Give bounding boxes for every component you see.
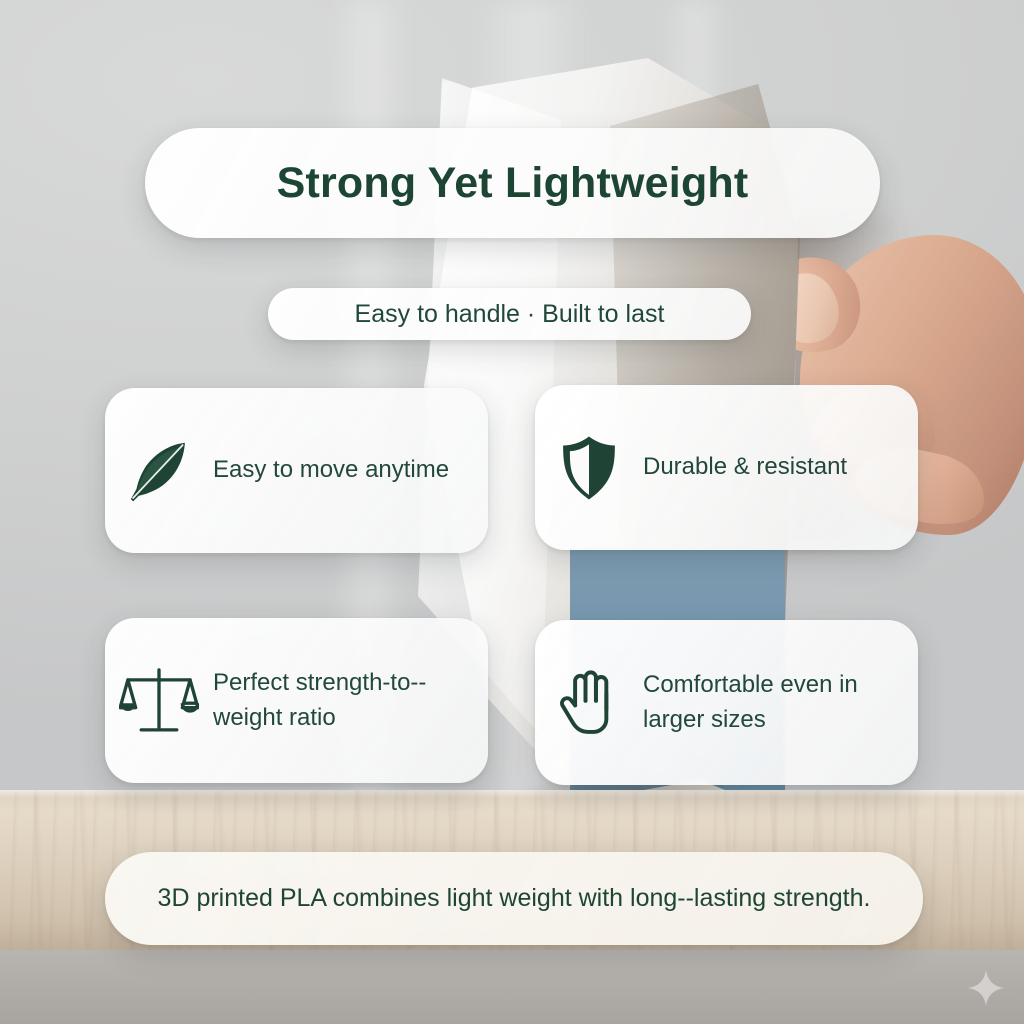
feature-card-label: Durable & resistant [643,450,863,484]
feature-card-durable[interactable]: Durable & resistant [535,385,918,550]
subtitle-pill: Easy to handle · Built to last [268,288,751,340]
feature-card-strength-to-weight[interactable]: Perfect strength-to--weight ratio [105,618,488,783]
sparkle-icon [966,968,1006,1008]
feature-card-comfortable[interactable]: Comfortable even in larger sizes [535,620,918,785]
background-floor [0,950,1024,1024]
feature-card-label: Perfect strength-to--weight ratio [213,666,488,734]
footer-caption: 3D printed PLA combines light weight wit… [158,880,871,916]
footer-caption-pill: 3D printed PLA combines light weight wit… [105,852,923,945]
page-title: Strong Yet Lightweight [277,159,749,208]
feature-card-easy-to-move[interactable]: Easy to move anytime [105,388,488,553]
feather-icon [105,388,213,553]
feature-card-label: Easy to move anytime [213,453,465,487]
shield-icon [535,385,643,550]
shelf-edge-highlight [0,790,1024,798]
open-hand-icon [535,620,643,785]
page-subtitle: Easy to handle · Built to last [355,300,665,329]
feature-card-label: Comfortable even in larger sizes [643,668,918,736]
title-pill: Strong Yet Lightweight [145,128,880,238]
balance-scale-icon [105,618,213,783]
poster-canvas: Strong Yet Lightweight Easy to handle · … [0,0,1024,1024]
